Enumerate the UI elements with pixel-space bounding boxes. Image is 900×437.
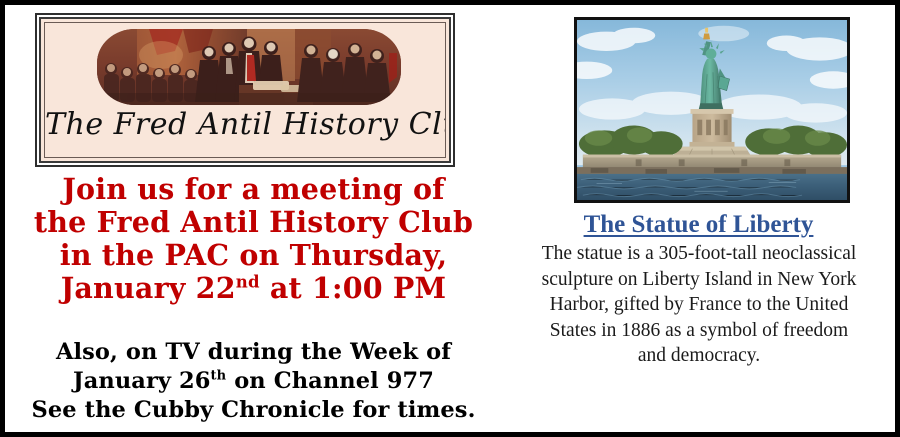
subtext-date-pre: January 26: [73, 368, 211, 394]
club-name-script: The Fred Antil History Club: [45, 107, 445, 142]
club-logo-box: The Fred Antil History Club: [39, 17, 451, 163]
subtext-date-ordinal: th: [211, 369, 227, 384]
meeting-headline: Join us for a meeting of the Fred Antil …: [5, 173, 502, 305]
left-column: The Fred Antil History Club Join us for …: [5, 5, 502, 432]
broadcast-subtext: Also, on TV during the Week of January 2…: [5, 338, 502, 425]
poster-columns: The Fred Antil History Club Join us for …: [5, 5, 895, 432]
headline-line-4: January 22nd at 1:00 PM: [5, 272, 502, 305]
subtext-channel: on Channel 977: [226, 368, 434, 394]
headline-date-pre: January 22: [61, 271, 236, 305]
headline-line-1: Join us for a meeting of: [5, 173, 502, 206]
subtext-line-2: January 26th on Channel 977: [5, 367, 502, 396]
subtext-line-1: Also, on TV during the Week of: [5, 338, 502, 367]
headline-date-post: at 1:00 PM: [260, 271, 447, 305]
right-column: The Statue of Liberty The statue is a 30…: [502, 5, 895, 432]
headline-line-3: in the PAC on Thursday,: [5, 239, 502, 272]
club-logo-inner: The Fred Antil History Club: [44, 22, 446, 158]
headline-date-ordinal: nd: [236, 272, 260, 292]
statue-of-liberty-title: The Statue of Liberty: [502, 211, 895, 238]
statue-of-liberty-photo: [574, 17, 850, 203]
subtext-line-3: See the Cubby Chronicle for times.: [5, 396, 502, 425]
headline-line-2: the Fred Antil History Club: [5, 206, 502, 239]
statue-of-liberty-description: The statue is a 305-foot-tall neoclassic…: [534, 241, 864, 369]
poster-page: The Fred Antil History Club Join us for …: [0, 0, 900, 437]
declaration-of-independence-painting-icon: [97, 29, 401, 105]
